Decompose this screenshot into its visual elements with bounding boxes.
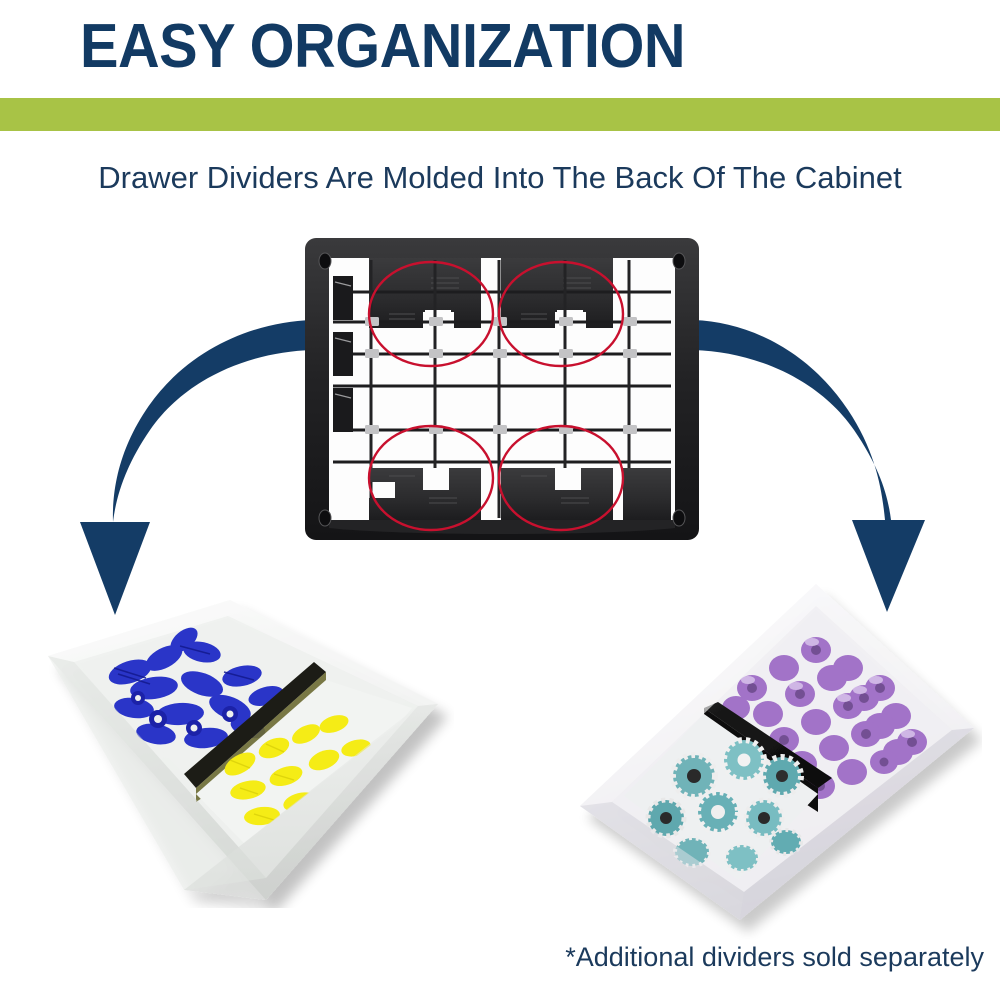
drawer-right-body [580,584,974,920]
subheading: Drawer Dividers Are Molded Into The Back… [0,159,1000,197]
side-mount-ribs [333,276,353,432]
infographic-root: EASY ORGANIZATION Drawer Dividers Are Mo… [0,0,1000,1000]
cabinet-back-panel [303,236,701,542]
curved-arrow-down-left-icon [80,320,312,615]
cabinet-illustration [303,236,701,542]
drawer-right-illustration [572,580,982,940]
molded-divider-row-bottom [369,468,671,520]
divider-slot [555,468,581,490]
footnote-text: *Additional dividers sold separately [0,940,984,974]
drawer-right [572,580,982,940]
divider-slot [423,468,449,490]
molded-divider [623,468,671,520]
drawer-left [34,588,454,908]
drawer-left-body [48,600,438,900]
curved-arrow-down-right-icon [694,320,925,612]
page-title: EASY ORGANIZATION [80,14,880,80]
accent-divider-bar [0,98,1000,131]
drawer-left-illustration [34,588,454,908]
